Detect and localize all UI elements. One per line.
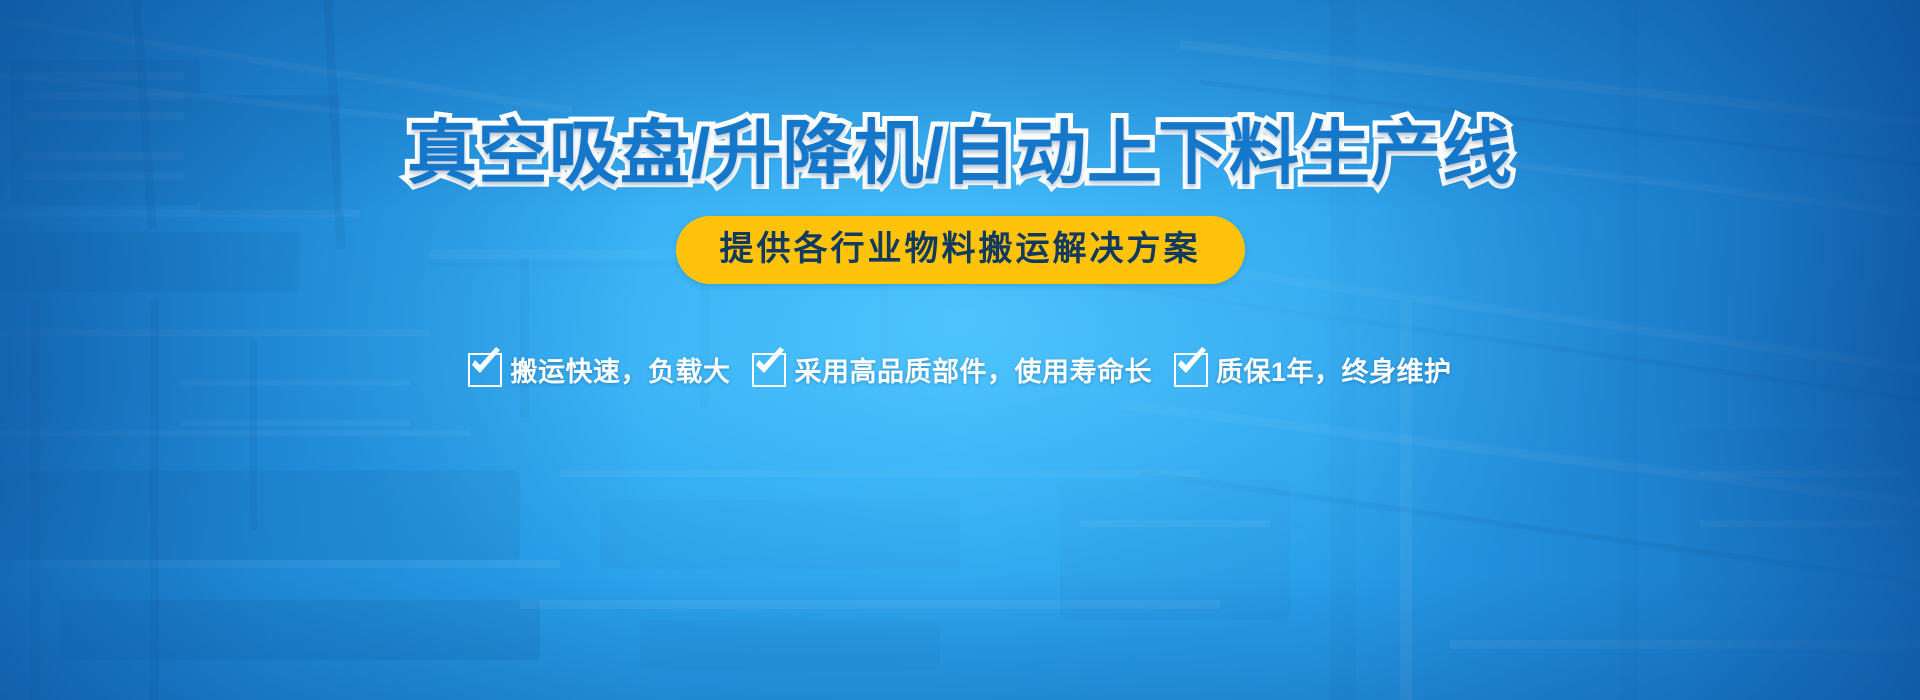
feature-item-2: 采用高品质部件，使用寿命长	[752, 350, 1152, 389]
check-box-icon	[1174, 353, 1208, 387]
feature-item-3: 质保1年，终身维护	[1174, 350, 1452, 389]
subtitle-pill: 提供各行业物料搬运解决方案	[676, 216, 1245, 284]
feature-label-2: 采用高品质部件，使用寿命长	[794, 350, 1152, 389]
feature-item-1: 搬运快速，负载大	[468, 350, 730, 389]
banner-content: 真空吸盘/升降机/自动上下料生产线 提供各行业物料搬运解决方案 搬运快速，负载大…	[0, 0, 1920, 700]
feature-label-3: 质保1年，终身维护	[1216, 350, 1452, 389]
promo-banner: 真空吸盘/升降机/自动上下料生产线 提供各行业物料搬运解决方案 搬运快速，负载大…	[0, 0, 1920, 700]
feature-label-1: 搬运快速，负载大	[510, 350, 730, 389]
check-box-icon	[752, 353, 786, 387]
page-title: 真空吸盘/升降机/自动上下料生产线	[407, 118, 1513, 188]
feature-list: 搬运快速，负载大 采用高品质部件，使用寿命长 质保1年，终身维护	[468, 350, 1451, 389]
check-box-icon	[468, 353, 502, 387]
